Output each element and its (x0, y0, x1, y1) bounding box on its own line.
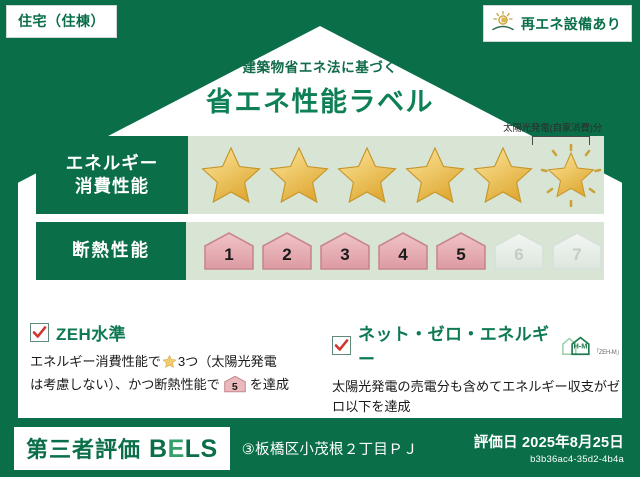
energy-label-line1: エネルギー (66, 152, 159, 175)
zeh-m-logo-caption: 「ZEH-M」 (593, 347, 620, 356)
criterion-net-zero-header: ネット・ゼロ・エネルギー H-M 「ZEH-M」 (332, 320, 620, 370)
insulation-level-badge: 1 (202, 230, 256, 272)
insulation-level-value: 7 (550, 245, 604, 265)
insulation-performance-label: 断熱性能 (36, 222, 186, 280)
star-filled (266, 144, 332, 207)
insulation-performance-row: 断熱性能 1 (36, 222, 604, 280)
bels-letter-s: S (201, 435, 218, 463)
energy-label-line2: 消費性能 (75, 175, 149, 198)
solar-annotation-label: 太陽光発電(自家消費)分 (503, 120, 602, 134)
star-filled (198, 144, 264, 207)
insulation-level-value: 5 (434, 245, 488, 265)
insulation-label-text: 断熱性能 (72, 239, 150, 262)
evaluation-date: 評価日 2025年8月25日 (474, 431, 624, 452)
star-solar-bonus (538, 144, 604, 207)
building-type-label: 住宅（住棟） (18, 13, 105, 29)
insulation-level-list: 1 2 3 4 (196, 230, 604, 272)
criterion-zeh-body: エネルギー消費性能で3つ（太陽光発電は考慮しない）、かつ断熱性能で5を達成 (30, 352, 318, 396)
criterion-net-zero-body: 太陽光発電の売電分も含めてエネルギー収支がゼロ以下を達成 (332, 377, 620, 418)
insulation-level-badge: 2 (260, 230, 314, 272)
energy-performance-label: エネルギー 消費性能 (36, 136, 188, 214)
building-type-tag: 住宅（住棟） (6, 5, 117, 38)
inline-star-icon (162, 354, 177, 375)
evaluation-info: 評価日 2025年8月25日 b3b36ac4-35d2-4b4a (474, 431, 624, 465)
bels-certification-box: 第三者評価 BELS (14, 427, 230, 470)
solar-bracket (532, 136, 590, 145)
insulation-level-badge-inactive: 6 (492, 230, 546, 272)
insulation-level-value: 2 (260, 245, 314, 265)
star-filled (470, 144, 536, 207)
renewable-energy-badge: 再エネ設備あり (483, 5, 632, 42)
property-name: ③板橋区小茂根２丁目ＰＪ (242, 438, 418, 459)
insulation-level-value: 6 (492, 245, 546, 265)
ratings-section: エネルギー 消費性能 (36, 136, 604, 280)
bels-letter-e: E (168, 435, 185, 463)
criterion-zeh-title: ZEH水準 (56, 320, 126, 345)
svg-text:H-M: H-M (573, 342, 587, 351)
bels-japanese-label: 第三者評価 (26, 432, 141, 464)
insulation-level-value: 3 (318, 245, 372, 265)
criterion-net-zero-title: ネット・ゼロ・エネルギー (358, 320, 552, 370)
insulation-level-badge: 4 (376, 230, 430, 272)
criteria-section: ZEH水準 エネルギー消費性能で3つ（太陽光発電は考慮しない）、かつ断熱性能で5… (30, 320, 620, 418)
checkbox-checked-icon (30, 323, 49, 342)
zeh-m-logo: H-M 「ZEH-M」 (561, 333, 620, 357)
insulation-level-badge: 5 (434, 230, 488, 272)
title-subtitle: 建築物省エネ法に基づく (0, 56, 640, 76)
star-filled (334, 144, 400, 207)
inline-house-icon: 5 (222, 375, 248, 393)
renewable-badge-label: 再エネ設備あり (521, 14, 621, 34)
sun-icon (490, 10, 516, 37)
evaluation-id: b3b36ac4-35d2-4b4a (474, 454, 624, 465)
insulation-level-value: 4 (376, 245, 430, 265)
bels-logo: BELS (149, 435, 218, 464)
energy-performance-row: エネルギー 消費性能 (36, 136, 604, 214)
star-rating (198, 144, 604, 207)
criterion-net-zero: ネット・ゼロ・エネルギー H-M 「ZEH-M」 太陽光発電の売電分も含めてエネ… (332, 320, 620, 418)
bels-letter-b: B (149, 435, 168, 463)
star-filled (402, 144, 468, 207)
energy-stars-area: 太陽光発電(自家消費)分 (188, 136, 604, 214)
footer-bar: 第三者評価 BELS ③板橋区小茂根２丁目ＰＪ 評価日 2025年8月25日 b… (0, 419, 640, 477)
criterion-zeh-text-2: は考慮しない）、かつ断熱性能で (30, 377, 220, 392)
criterion-zeh-text-star-count: 3つ（太陽光発電 (178, 354, 277, 369)
insulation-level-value: 1 (202, 245, 256, 265)
inline-house-value: 5 (222, 379, 248, 395)
criterion-zeh-text-3: を達成 (250, 377, 289, 392)
page-title: 省エネ性能ラベル (0, 80, 640, 119)
criterion-zeh-header: ZEH水準 (30, 320, 318, 345)
bels-letter-l: L (185, 435, 201, 463)
insulation-level-badge-inactive: 7 (550, 230, 604, 272)
insulation-level-badge: 3 (318, 230, 372, 272)
checkbox-checked-icon (332, 336, 351, 355)
criterion-zeh: ZEH水準 エネルギー消費性能で3つ（太陽光発電は考慮しない）、かつ断熱性能で5… (30, 320, 318, 418)
criterion-zeh-text-1: エネルギー消費性能で (30, 354, 161, 369)
title-block: 建築物省エネ法に基づく 省エネ性能ラベル (0, 56, 640, 119)
insulation-levels-area: 1 2 3 4 (186, 222, 604, 280)
